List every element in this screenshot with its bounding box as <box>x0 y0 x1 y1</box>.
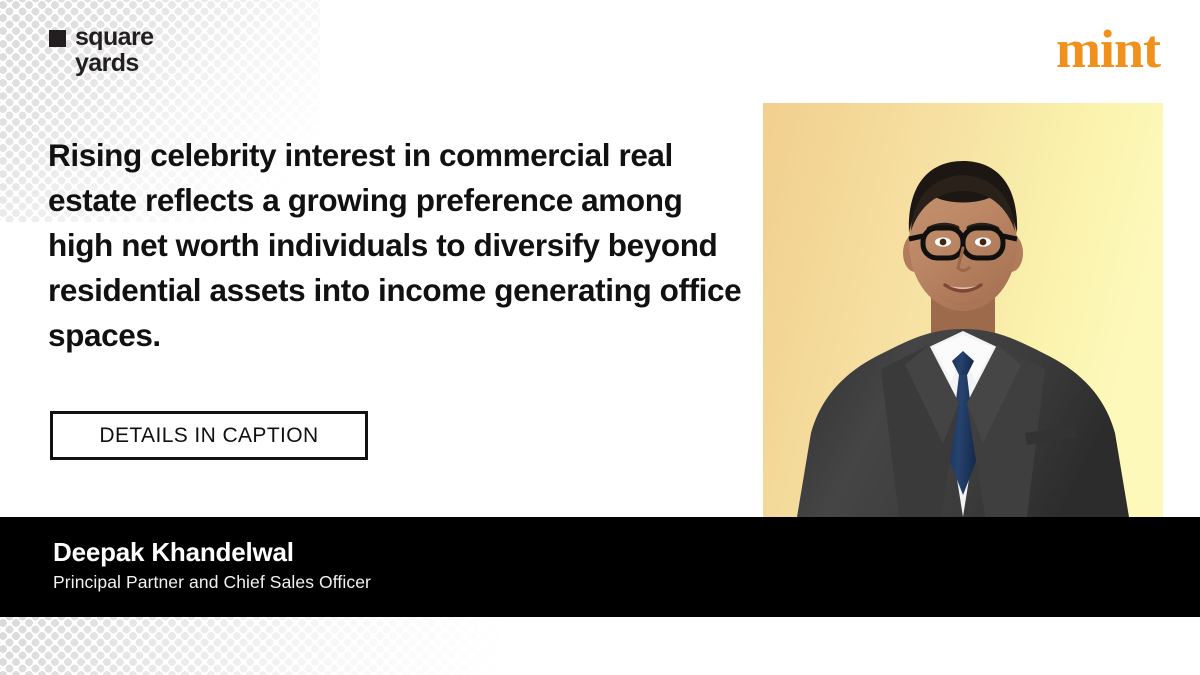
mint-logo: mint <box>1056 22 1160 76</box>
details-in-caption-button[interactable]: DETAILS IN CAPTION <box>50 411 368 460</box>
person-name: Deepak Khandelwal <box>53 537 294 568</box>
portrait-illustration <box>763 103 1163 517</box>
quote-card: square yards mint Rising celebrity inter… <box>0 0 1200 675</box>
quote-text: Rising celebrity interest in commercial … <box>48 133 748 358</box>
halftone-bottom-left-decoration <box>0 610 550 675</box>
details-in-caption-label: DETAILS IN CAPTION <box>99 424 318 448</box>
logo-word-square: square <box>75 24 153 50</box>
black-square-mark-icon <box>49 30 66 47</box>
portrait-photo <box>763 103 1163 517</box>
logo-line-one: square <box>49 24 153 50</box>
logo-line-two: yards <box>49 50 153 76</box>
logo-word-yards: yards <box>75 49 139 77</box>
square-yards-logo: square yards <box>49 24 153 76</box>
person-title: Principal Partner and Chief Sales Office… <box>53 572 371 593</box>
